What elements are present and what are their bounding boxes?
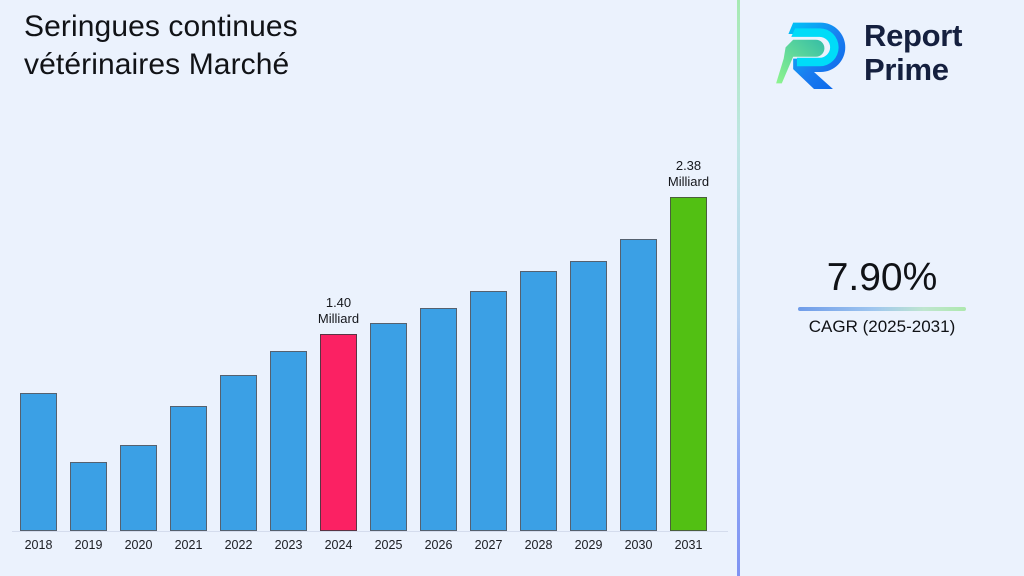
bar-2026 xyxy=(420,308,457,531)
x-tick-2019: 2019 xyxy=(64,538,113,552)
x-tick-2024: 2024 xyxy=(314,538,363,552)
x-tick-2018: 2018 xyxy=(14,538,63,552)
chart-panel: Seringues continues vétérinaires Marché … xyxy=(0,0,738,576)
bar-2020 xyxy=(120,445,157,531)
cagr-caption: CAGR (2025-2031) xyxy=(740,316,1024,338)
bar-label-2031: 2.38 Milliard xyxy=(646,158,731,190)
bar-2022 xyxy=(220,375,257,531)
bar-2028 xyxy=(520,271,557,531)
x-tick-2029: 2029 xyxy=(564,538,613,552)
bar-2025 xyxy=(370,323,407,531)
bar-2021 xyxy=(170,406,207,531)
x-axis-line xyxy=(12,531,728,532)
cagr-block: 7.90% CAGR (2025-2031) xyxy=(740,255,1024,338)
cagr-divider-rule xyxy=(798,307,966,311)
logo-wordmark: Report Prime xyxy=(864,19,962,87)
x-tick-2025: 2025 xyxy=(364,538,413,552)
bar-2029 xyxy=(570,261,607,531)
x-tick-2023: 2023 xyxy=(264,538,313,552)
x-tick-2028: 2028 xyxy=(514,538,563,552)
bar-2019 xyxy=(70,462,107,531)
bar-2024 xyxy=(320,334,357,531)
brand-panel: Report Prime 7.90% CAGR (2025-2031) xyxy=(740,0,1024,576)
bar-chart-plot: 2018201920202021202220232024202520262027… xyxy=(0,0,738,576)
report-prime-logo: Report Prime xyxy=(776,12,1008,94)
x-tick-2030: 2030 xyxy=(614,538,663,552)
bar-2031 xyxy=(670,197,707,531)
x-tick-2027: 2027 xyxy=(464,538,513,552)
bar-2027 xyxy=(470,291,507,531)
x-tick-2031: 2031 xyxy=(664,538,713,552)
bar-2023 xyxy=(270,351,307,531)
bar-label-2024: 1.40 Milliard xyxy=(296,295,381,327)
bar-2030 xyxy=(620,239,657,531)
cagr-value: 7.90% xyxy=(740,255,1024,301)
bar-2018 xyxy=(20,393,57,531)
x-tick-2026: 2026 xyxy=(414,538,463,552)
x-tick-2020: 2020 xyxy=(114,538,163,552)
report-prime-logo-mark xyxy=(776,17,852,89)
x-tick-2022: 2022 xyxy=(214,538,263,552)
x-tick-2021: 2021 xyxy=(164,538,213,552)
